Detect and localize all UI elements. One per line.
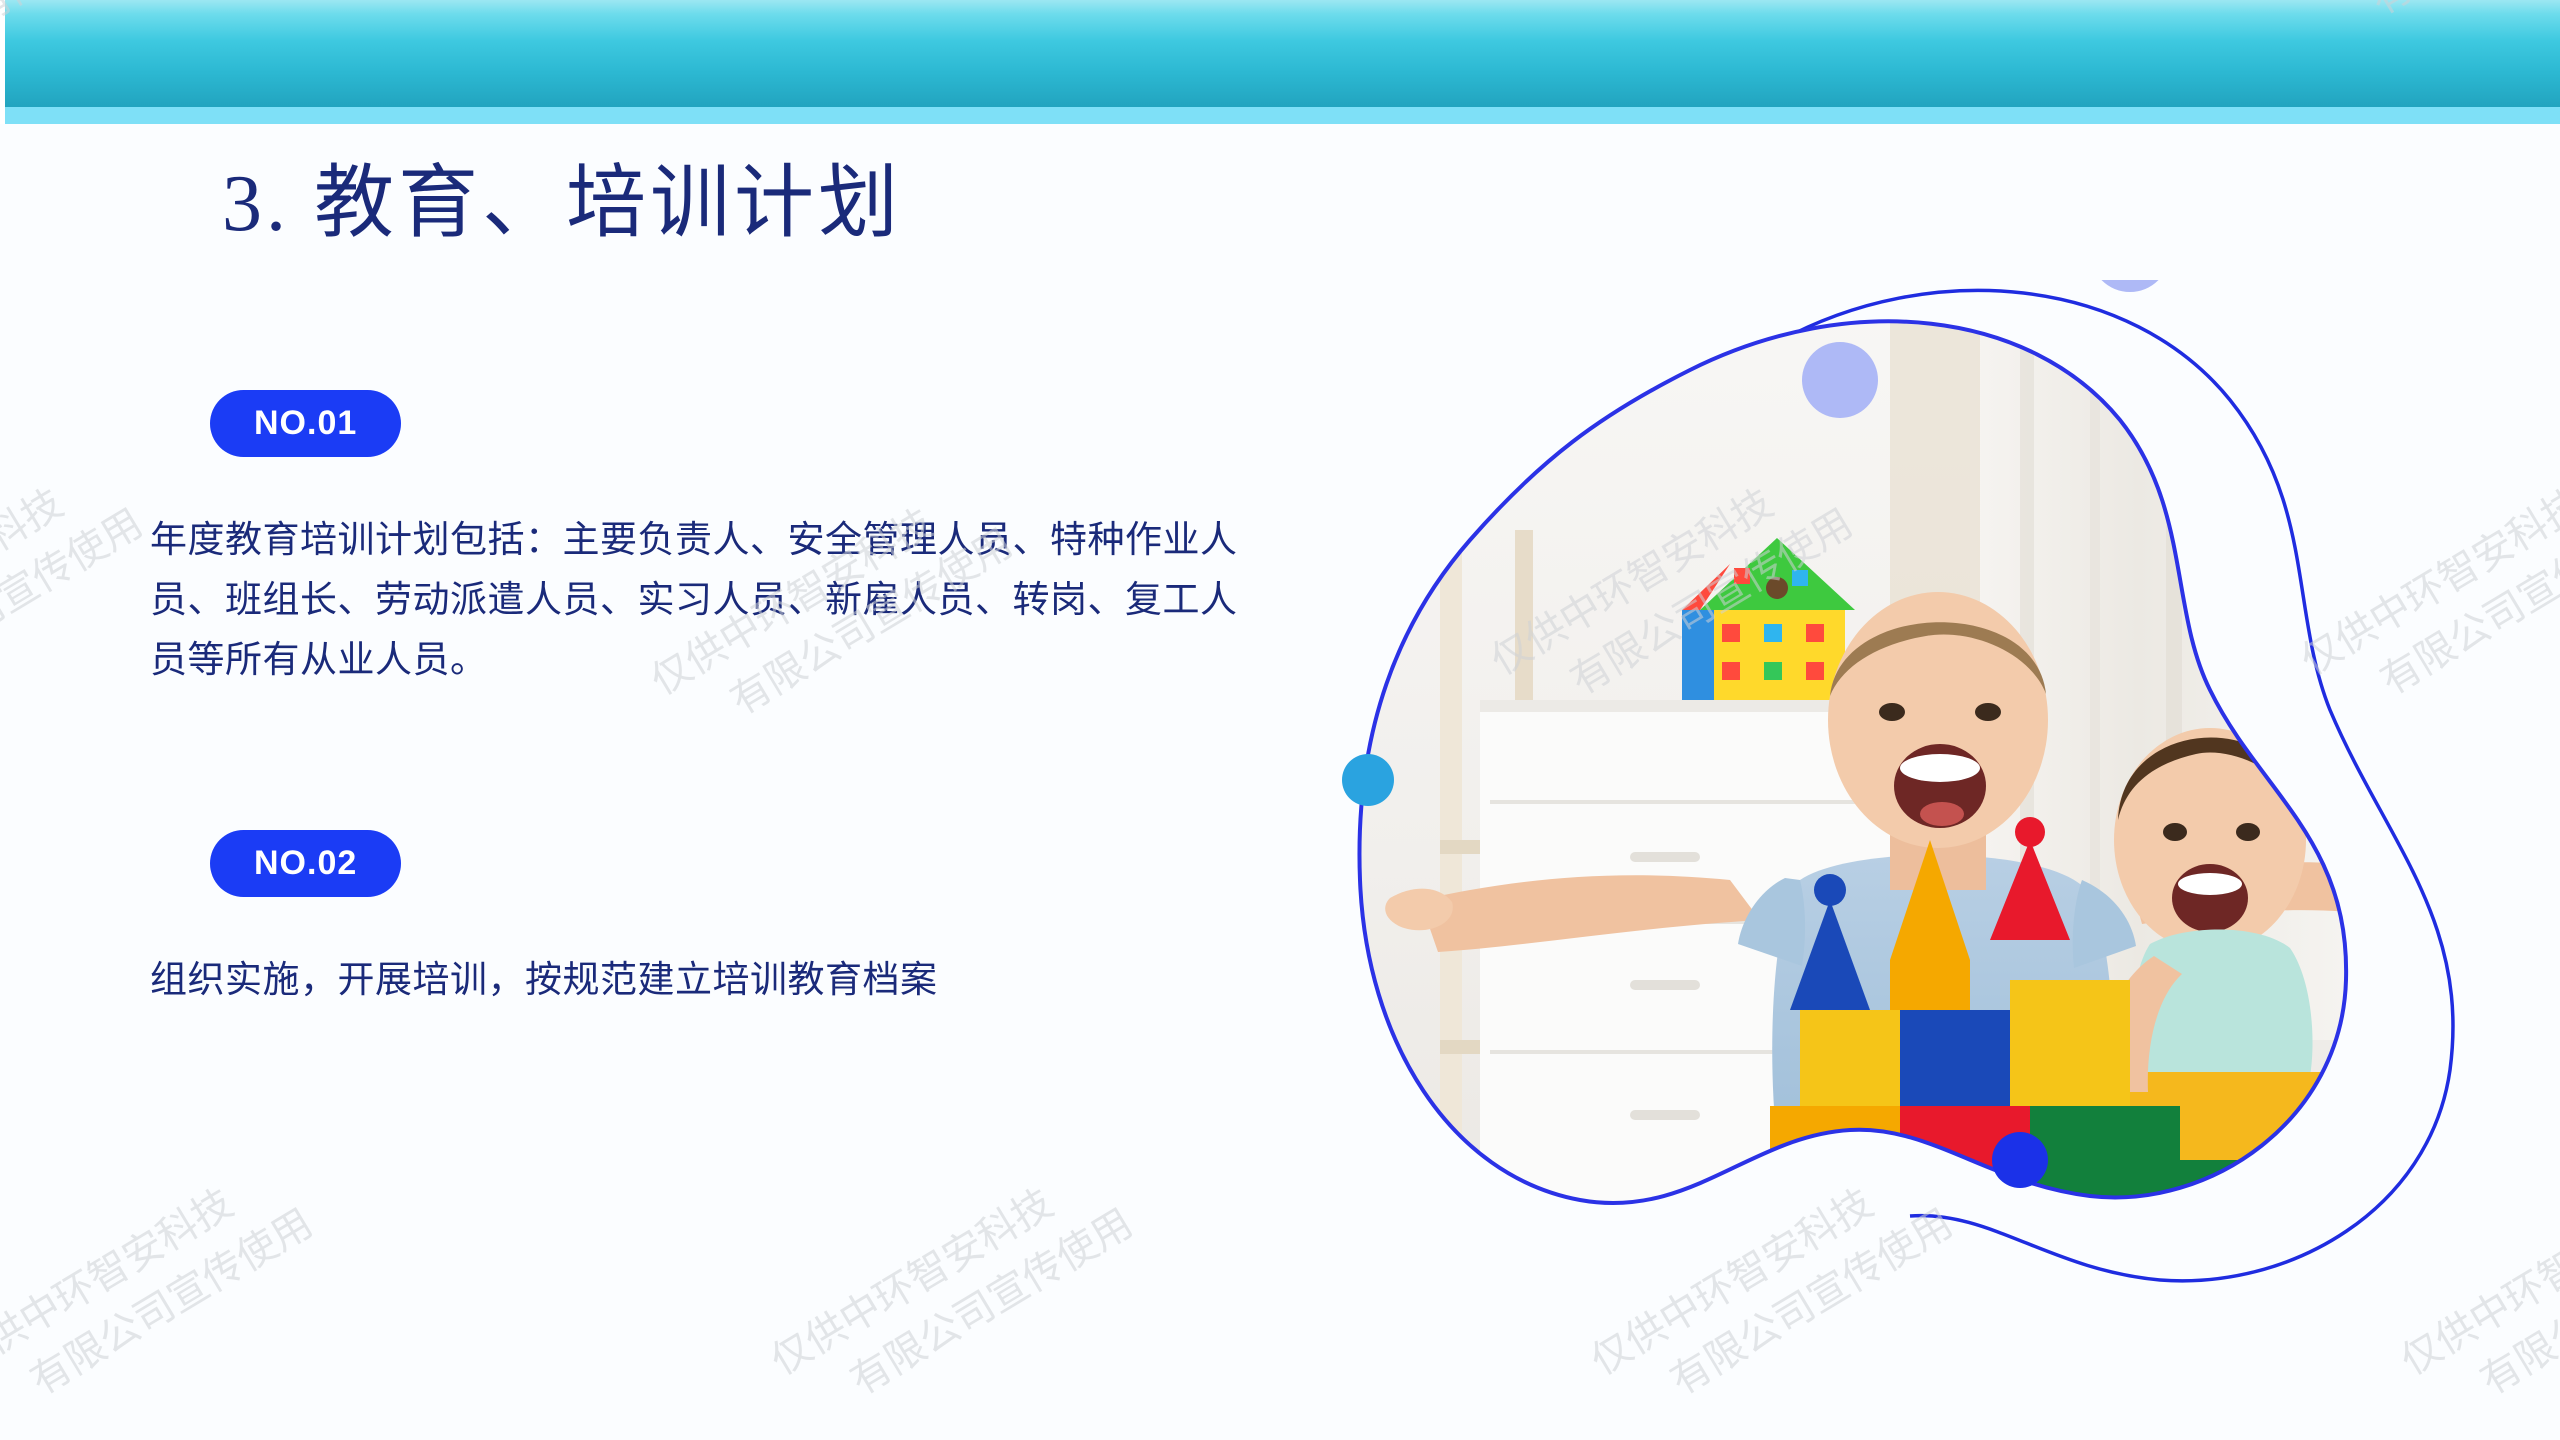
watermark-tile: 仅供中环智安科技 有限公司宣传使用 — [0, 445, 154, 739]
slide-canvas: 3. 教育、培训计划 NO.01 年度教育培训计划包括：主要负责人、安全管理人员… — [0, 0, 2560, 1440]
blue-accent-dot — [1992, 1132, 2048, 1188]
badge-no-01[interactable]: NO.01 — [210, 390, 401, 457]
badge-no-02[interactable]: NO.02 — [210, 830, 401, 897]
lavender-accent-circle — [2090, 280, 2170, 292]
watermark-line-1: 仅供中环智安科技 — [0, 445, 124, 689]
watermark-line-2: 有限公司宣传使用 — [20, 1195, 324, 1410]
watermark-line-1: 仅供中环智安科技 — [0, 1145, 294, 1389]
lavender-circle-overlay — [1780, 320, 1900, 440]
watermark-line-2: 有限公司宣传使用 — [0, 495, 154, 710]
watermark-line-2: 有限公司宣传使用 — [840, 1195, 1144, 1410]
cyan-accent-dot — [1342, 754, 1394, 806]
header-underline-strip — [5, 107, 2560, 124]
photo-blob-artwork — [1330, 280, 2530, 1340]
section-01-text: 年度教育培训计划包括：主要负责人、安全管理人员、特种作业人员、班组长、劳动派遣人… — [150, 510, 1240, 690]
section-01-badge-wrap: NO.01 — [210, 390, 401, 457]
header-gradient-band — [5, 0, 2560, 107]
photo-content — [1330, 280, 2530, 1340]
section-02-badge-wrap: NO.02 — [210, 830, 401, 897]
page-title: 3. 教育、培训计划 — [222, 158, 902, 250]
watermark-line-1: 仅供中环智安科技 — [760, 1145, 1114, 1389]
watermark-tile: 仅供中环智安科技 有限公司宣传使用 — [0, 1145, 324, 1439]
header-left-margin — [0, 0, 5, 124]
section-02-text: 组织实施，开展培训，按规范建立培训教育档案 — [150, 950, 1240, 1010]
watermark-tile: 仅供中环智安科技 有限公司宣传使用 — [760, 1145, 1144, 1439]
